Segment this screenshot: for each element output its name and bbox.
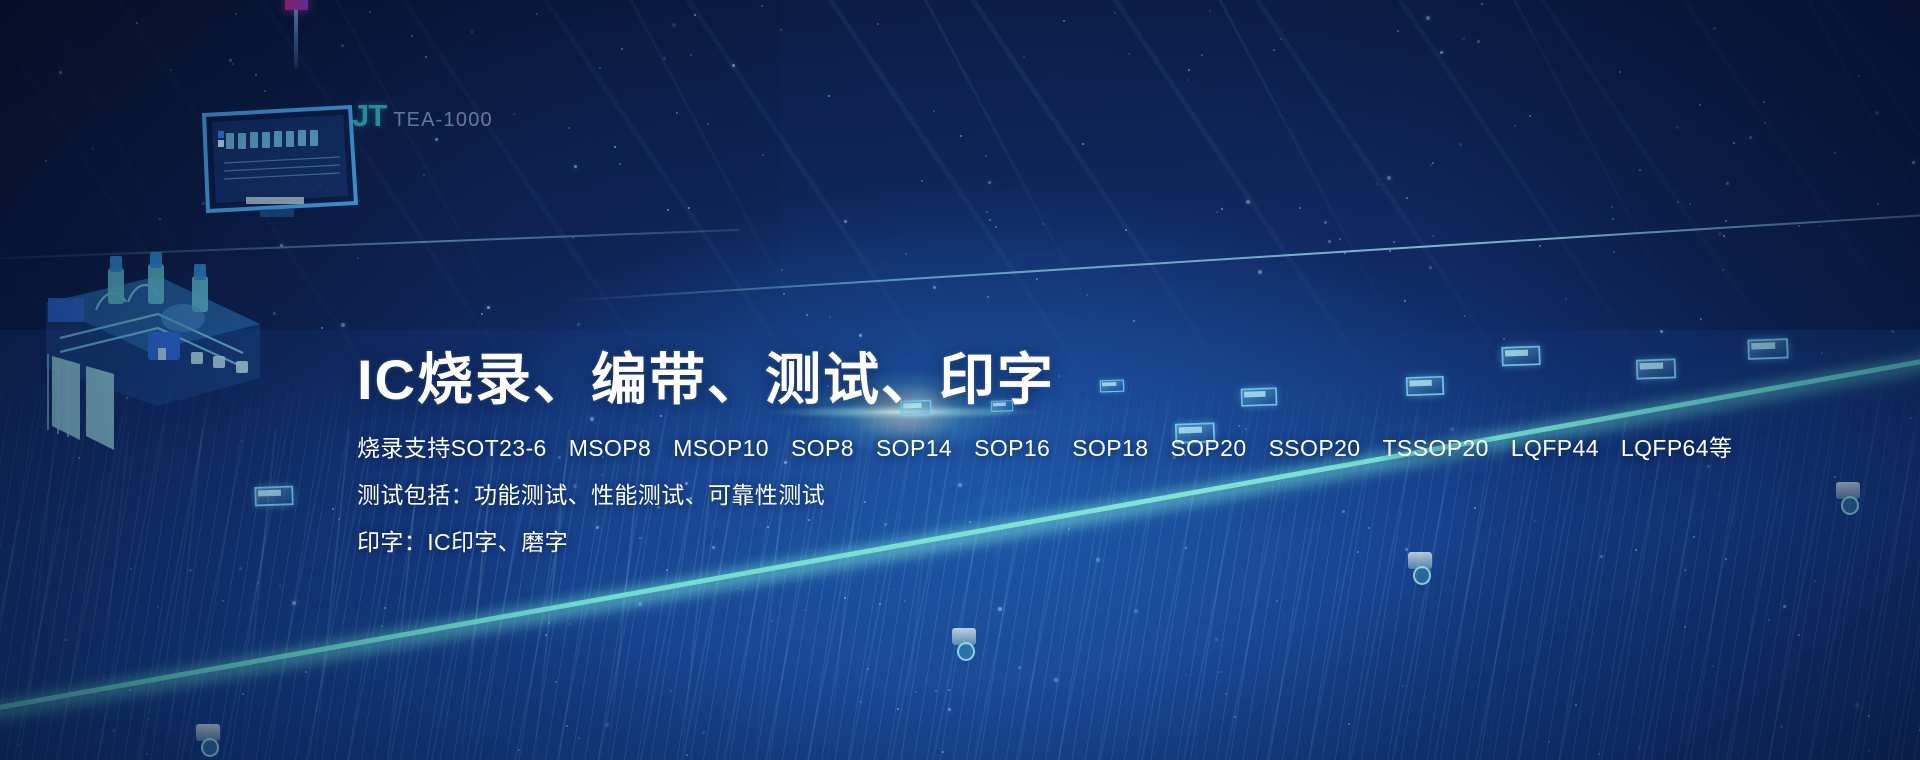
vignette-overlay (0, 0, 1920, 760)
banner-hero: JT TEA-1000 IC烧录、编带、测试、印字 烧录支持SOT23-6MSO… (0, 0, 1920, 760)
